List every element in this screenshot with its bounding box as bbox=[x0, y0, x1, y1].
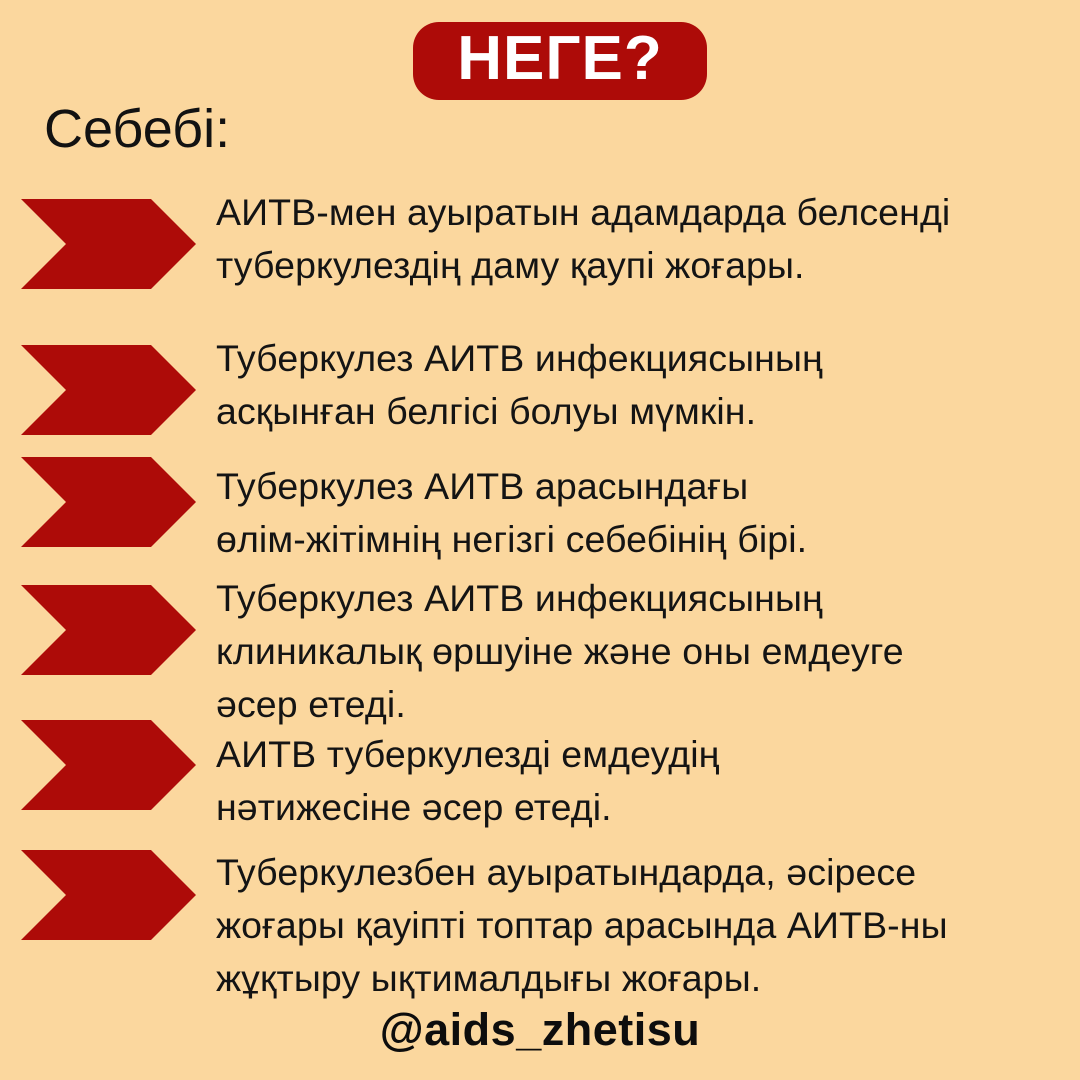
list-item-text: Туберкулез АИТВ инфекциясының асқынған б… bbox=[216, 332, 1061, 438]
text-line: клиникалық өршуіне және оны емдеуге bbox=[216, 625, 1061, 678]
title-badge: НЕГЕ? bbox=[413, 22, 707, 100]
chevron-arrow-right-icon bbox=[21, 457, 196, 547]
list-item-text: Туберкулезбен ауыратындарда, әсіресе жоғ… bbox=[216, 846, 1061, 1005]
text-line: әсер етеді. bbox=[216, 678, 1061, 731]
chevron-arrow-right-icon bbox=[21, 850, 196, 940]
social-handle: @aids_zhetisu bbox=[0, 1004, 1080, 1056]
text-line: жоғары қауіпті топтар арасында АИТВ-ны bbox=[216, 899, 1061, 952]
text-line: АИТВ туберкулезді емдеудің bbox=[216, 728, 1061, 781]
text-line: өлім-жітімнің негізгі себебінің бірі. bbox=[216, 513, 1061, 566]
title-badge-label: НЕГЕ? bbox=[457, 28, 663, 94]
text-line: Туберкулез АИТВ инфекциясының bbox=[216, 332, 1061, 385]
text-line: жұқтыру ықтималдығы жоғары. bbox=[216, 952, 1061, 1005]
chevron-arrow-right-icon bbox=[21, 585, 196, 675]
list-item-text: АИТВ-мен ауыратын адамдарда белсенді туб… bbox=[216, 186, 1061, 292]
text-line: АИТВ-мен ауыратын адамдарда белсенді bbox=[216, 186, 1061, 239]
text-line: Туберкулез АИТВ арасындағы bbox=[216, 460, 1061, 513]
chevron-arrow-right-icon bbox=[21, 720, 196, 810]
text-line: туберкулездің даму қаупі жоғары. bbox=[216, 239, 1061, 292]
text-line: нәтижесіне әсер етеді. bbox=[216, 781, 1061, 834]
subtitle: Себебі: bbox=[44, 98, 230, 160]
text-line: Туберкулезбен ауыратындарда, әсіресе bbox=[216, 846, 1061, 899]
list-item-text: Туберкулез АИТВ арасындағы өлім-жітімнің… bbox=[216, 460, 1061, 566]
list-item-text: АИТВ туберкулезді емдеудің нәтижесіне әс… bbox=[216, 728, 1061, 834]
chevron-arrow-right-icon bbox=[21, 199, 196, 289]
chevron-arrow-right-icon bbox=[21, 345, 196, 435]
text-line: асқынған белгісі болуы мүмкін. bbox=[216, 385, 1061, 438]
list-item-text: Туберкулез АИТВ инфекциясының клиникалық… bbox=[216, 572, 1061, 731]
infographic-poster: НЕГЕ? Себебі: АИТВ-мен ауыратын адамдард… bbox=[0, 0, 1080, 1080]
text-line: Туберкулез АИТВ инфекциясының bbox=[216, 572, 1061, 625]
